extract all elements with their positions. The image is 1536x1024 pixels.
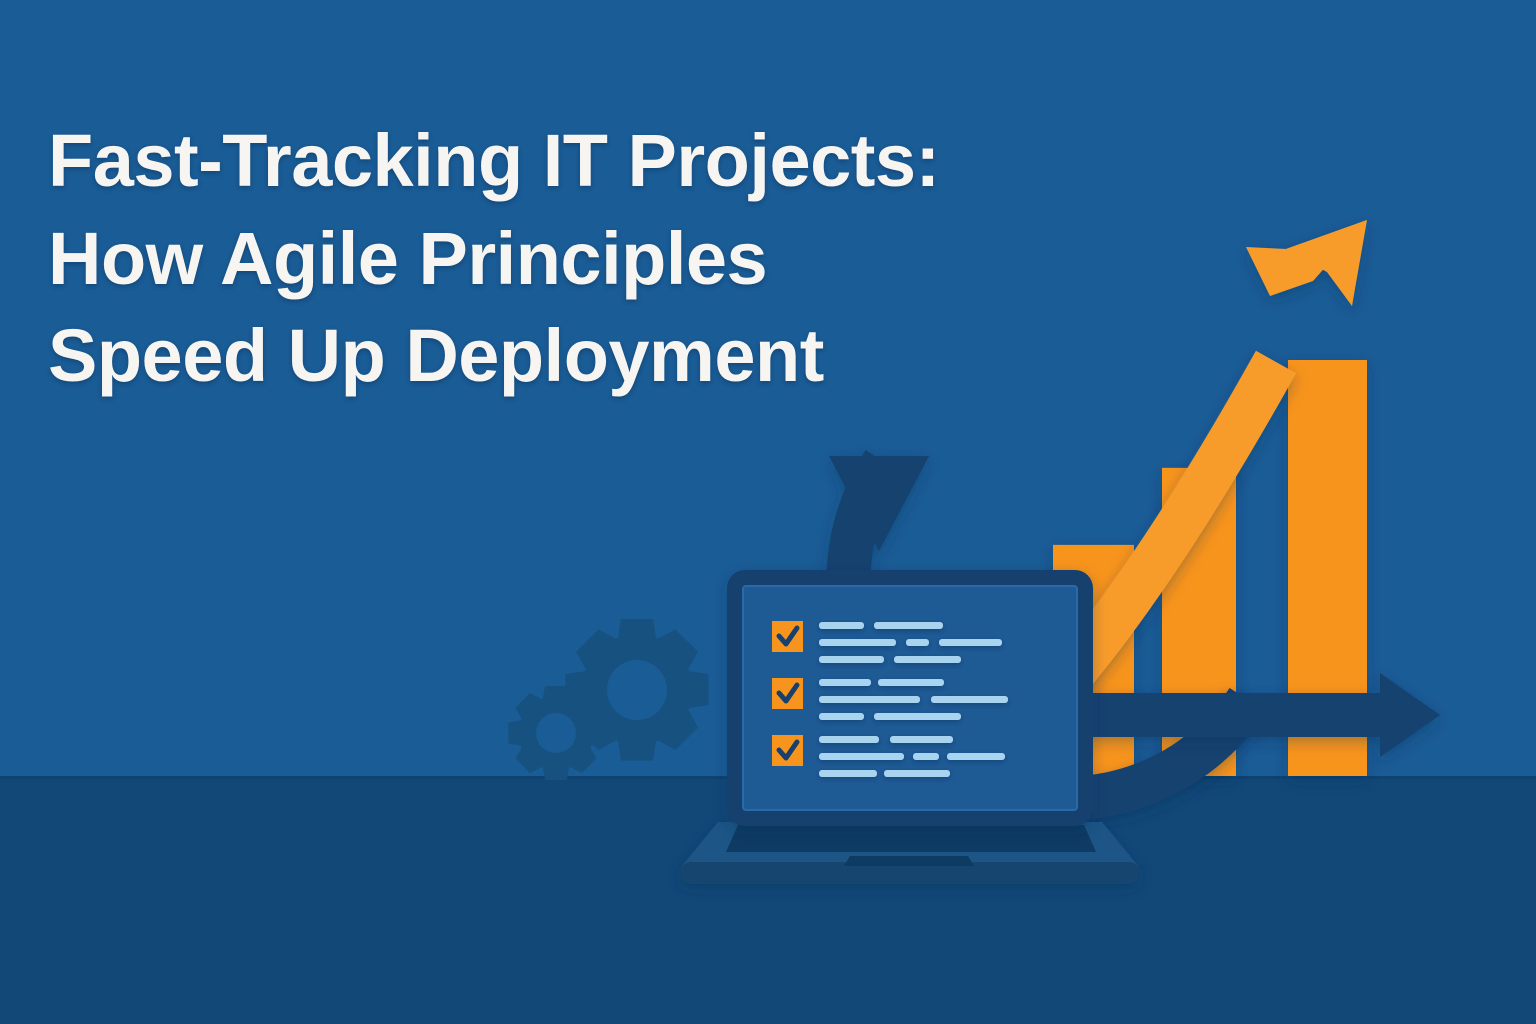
ground-line: [0, 776, 1536, 779]
title-line-1: Fast-Tracking IT Projects:: [48, 112, 1188, 210]
background-lower-band: [0, 776, 1536, 1024]
page-title: Fast-Tracking IT Projects: How Agile Pri…: [48, 112, 1188, 405]
title-line-3: Speed Up Deployment: [48, 307, 1188, 405]
title-line-2: How Agile Principles: [48, 210, 1188, 308]
hero-banner: Fast-Tracking IT Projects: How Agile Pri…: [0, 0, 1536, 1024]
